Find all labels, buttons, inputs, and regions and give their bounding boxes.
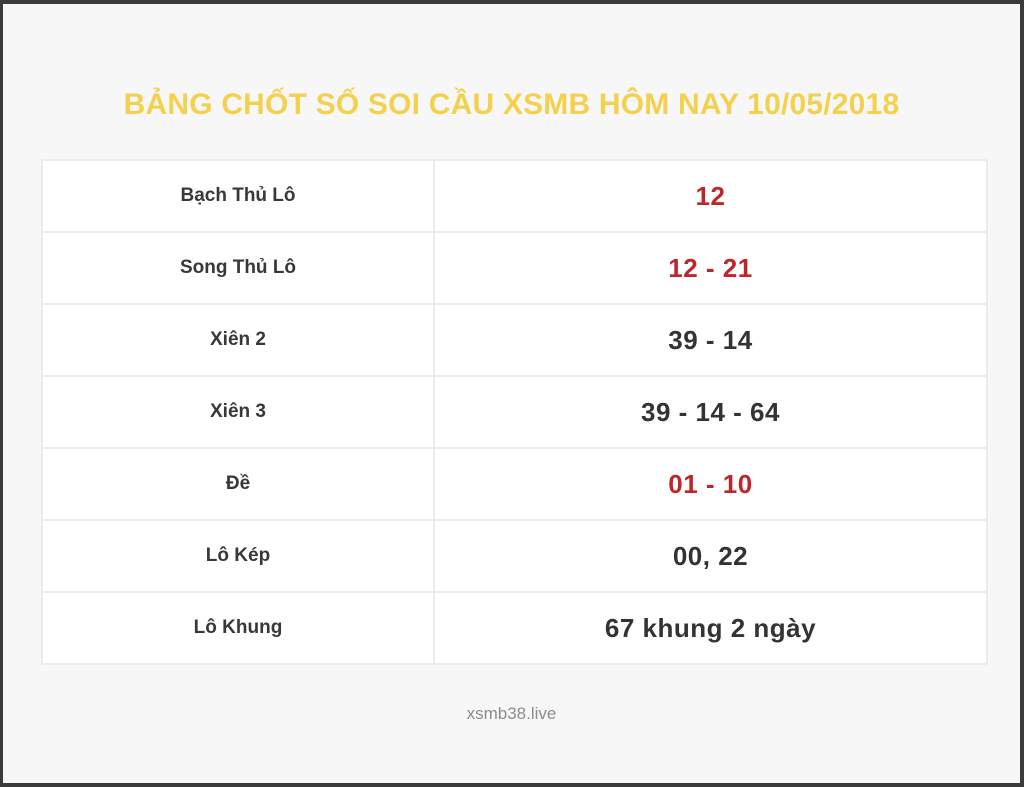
row-label-cell: Xiên 2	[42, 304, 434, 376]
row-label: Đề	[226, 473, 250, 494]
row-label: Lô Khung	[194, 617, 283, 638]
row-value: 01 - 10	[668, 469, 752, 499]
row-value: 67 khung 2 ngày	[605, 613, 816, 643]
row-value: 00, 22	[673, 541, 748, 571]
row-label-cell: Đề	[42, 448, 434, 520]
table-row: Song Thủ Lô12 - 21	[42, 232, 987, 304]
row-value: 12	[696, 181, 726, 211]
row-label-cell: Lô Kép	[42, 520, 434, 592]
row-value-cell: 01 - 10	[434, 448, 987, 520]
table-row: Xiên 239 - 14	[42, 304, 987, 376]
row-label-cell: Bạch Thủ Lô	[42, 160, 434, 232]
row-label: Xiên 3	[210, 401, 266, 422]
row-value: 39 - 14 - 64	[641, 397, 780, 427]
row-value: 12 - 21	[668, 253, 752, 283]
row-value: 39 - 14	[668, 325, 752, 355]
page-container: BẢNG CHỐT SỐ SOI CẦU XSMB HÔM NAY 10/05/…	[0, 0, 1024, 787]
row-value-cell: 67 khung 2 ngày	[434, 592, 987, 664]
table-row: Lô Khung67 khung 2 ngày	[42, 592, 987, 664]
row-value-cell: 39 - 14	[434, 304, 987, 376]
site-watermark: xsmb38.live	[3, 704, 1020, 724]
page-title: BẢNG CHỐT SỐ SOI CẦU XSMB HÔM NAY 10/05/…	[3, 88, 1020, 122]
row-value-cell: 12	[434, 160, 987, 232]
row-label-cell: Lô Khung	[42, 592, 434, 664]
table-row: Lô Kép00, 22	[42, 520, 987, 592]
row-value-cell: 39 - 14 - 64	[434, 376, 987, 448]
row-label-cell: Xiên 3	[42, 376, 434, 448]
table-row: Đề01 - 10	[42, 448, 987, 520]
row-label: Song Thủ Lô	[180, 257, 296, 278]
row-label: Lô Kép	[206, 545, 270, 566]
table-row: Bạch Thủ Lô12	[42, 160, 987, 232]
row-value-cell: 12 - 21	[434, 232, 987, 304]
row-label: Bạch Thủ Lô	[180, 185, 295, 206]
prediction-table: Bạch Thủ Lô12Song Thủ Lô12 - 21Xiên 239 …	[41, 159, 988, 665]
row-label: Xiên 2	[210, 329, 266, 350]
row-value-cell: 00, 22	[434, 520, 987, 592]
table-body: Bạch Thủ Lô12Song Thủ Lô12 - 21Xiên 239 …	[42, 160, 987, 664]
row-label-cell: Song Thủ Lô	[42, 232, 434, 304]
table-row: Xiên 339 - 14 - 64	[42, 376, 987, 448]
